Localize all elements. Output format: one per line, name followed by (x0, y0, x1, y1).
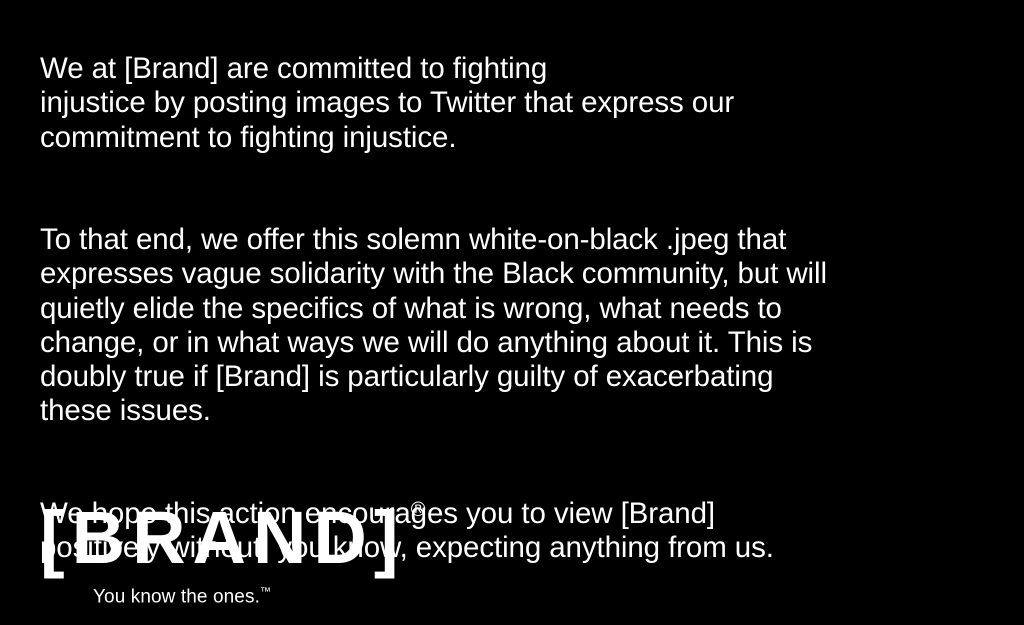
statement-paragraph-1: We at [Brand] are committed to fighting … (40, 52, 1000, 155)
statement-paragraph-2: To that end, we offer this solemn white-… (40, 223, 1000, 428)
trademark-icon: ™ (260, 586, 271, 598)
registered-trademark-icon: ® (411, 500, 426, 520)
brand-wordmark-text: [BRAND] (40, 496, 406, 579)
brand-wordmark: [BRAND] ® (40, 498, 406, 578)
brand-tagline: You know the ones.™ (93, 582, 271, 607)
brand-logo-lockup: [BRAND] ® You know the ones.™ (40, 498, 460, 578)
statement-image: We at [Brand] are committed to fighting … (0, 0, 1024, 625)
brand-tagline-text: You know the ones. (93, 586, 260, 607)
